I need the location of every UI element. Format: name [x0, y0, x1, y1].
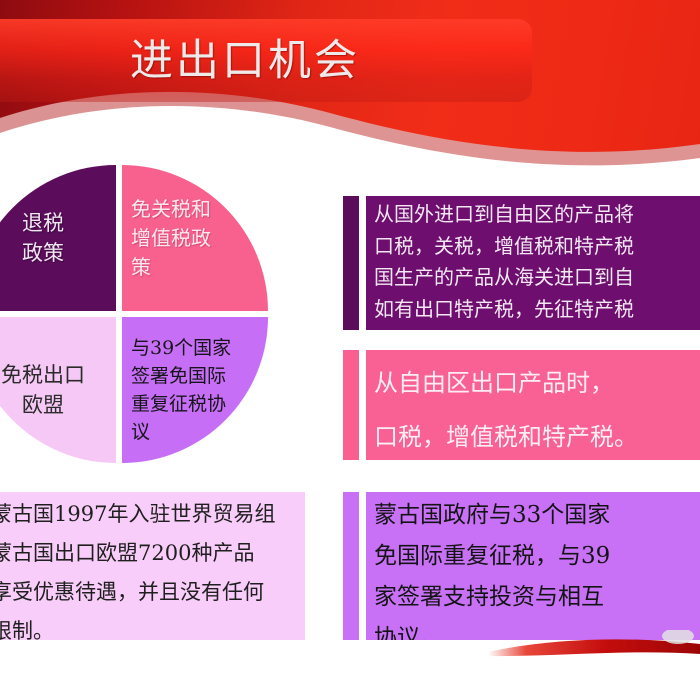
callout-tax-treaties[interactable]: 蒙古国政府与33个国家 免国际重复征税，与39 家签署支持投资与相互 协议。	[343, 492, 700, 640]
callout-line: 口税，关税，增值税和特产税	[366, 228, 700, 260]
slide-canvas: 进出口机会 退税 政策 免关税和 增值税政 策 免税出口 欧盟 与39个国家	[0, 0, 700, 700]
callout-line: 享受优惠待遇，并且没有任何	[0, 570, 305, 609]
callout-body: 蒙古国政府与33个国家 免国际重复征税，与39 家签署支持投资与相互 协议。	[366, 492, 700, 640]
callout-export-duty[interactable]: 从自由区出口产品时， 口税，增值税和特产税。	[343, 350, 700, 460]
wheel-quadrant-duty-free-export-eu[interactable]: 免税出口 欧盟	[0, 317, 116, 463]
callout-accent-bar	[343, 350, 359, 460]
policy-wheel: 退税 政策 免关税和 增值税政 策 免税出口 欧盟 与39个国家 签署免国际 重…	[0, 165, 270, 463]
callout-line: 如有出口特产税，先征特产税	[366, 291, 700, 323]
callout-line: 家签署支持投资与相互	[366, 574, 700, 615]
callout-line: 蒙古国1997年入驻世界贸易组	[0, 492, 305, 531]
callout-body: 从国外进口到自由区的产品将 口税，关税，增值税和特产税 国生产的产品从海关进口到…	[366, 196, 700, 330]
wheel-quadrant-label: 免关税和 增值税政 策	[131, 195, 259, 282]
callout-body: 从自由区出口产品时， 口税，增值税和特产税。	[366, 350, 700, 460]
wheel-quadrant-label: 免税出口 欧盟	[0, 360, 107, 420]
callout-import-duty[interactable]: 从国外进口到自由区的产品将 口税，关税，增值税和特产税 国生产的产品从海关进口到…	[343, 196, 700, 330]
callout-line: 可以退增值税。	[366, 322, 700, 330]
wheel-quadrant-label: 退税 政策	[0, 208, 107, 268]
callout-accent-bar	[343, 492, 359, 640]
wheel-quadrant-double-taxation-treaties[interactable]: 与39个国家 签署免国际 重复征税协 议	[122, 317, 268, 463]
footer-swoosh-decoration	[480, 630, 700, 670]
callout-line: 国生产的产品从海关进口到自	[366, 259, 700, 291]
callout-line: 从自由区出口产品时，	[366, 350, 700, 404]
wheel-quadrant-duty-vat-exemption[interactable]: 免关税和 增值税政 策	[122, 165, 268, 311]
callout-wto-membership[interactable]: 蒙古国1997年入驻世界贸易组 蒙古国出口欧盟7200种产品 享受优惠待遇，并且…	[0, 492, 305, 640]
callout-line: 限制。	[0, 609, 305, 640]
callout-body: 蒙古国1997年入驻世界贸易组 蒙古国出口欧盟7200种产品 享受优惠待遇，并且…	[0, 492, 305, 640]
callout-line: 从国外进口到自由区的产品将	[366, 196, 700, 228]
wheel-quadrant-tax-refund-policy[interactable]: 退税 政策	[0, 165, 116, 311]
callout-accent-bar	[343, 196, 359, 330]
callout-line: 免国际重复征税，与39	[366, 533, 700, 574]
page-title: 进出口机会	[130, 30, 550, 92]
callout-line: 蒙古国政府与33个国家	[366, 492, 700, 533]
callout-line: 口税，增值税和特产税。	[366, 404, 700, 458]
callout-line: 蒙古国出口欧盟7200种产品	[0, 531, 305, 570]
wheel-quadrant-label: 与39个国家 签署免国际 重复征税协 议	[131, 334, 259, 446]
slide-header: 进出口机会	[0, 0, 700, 176]
